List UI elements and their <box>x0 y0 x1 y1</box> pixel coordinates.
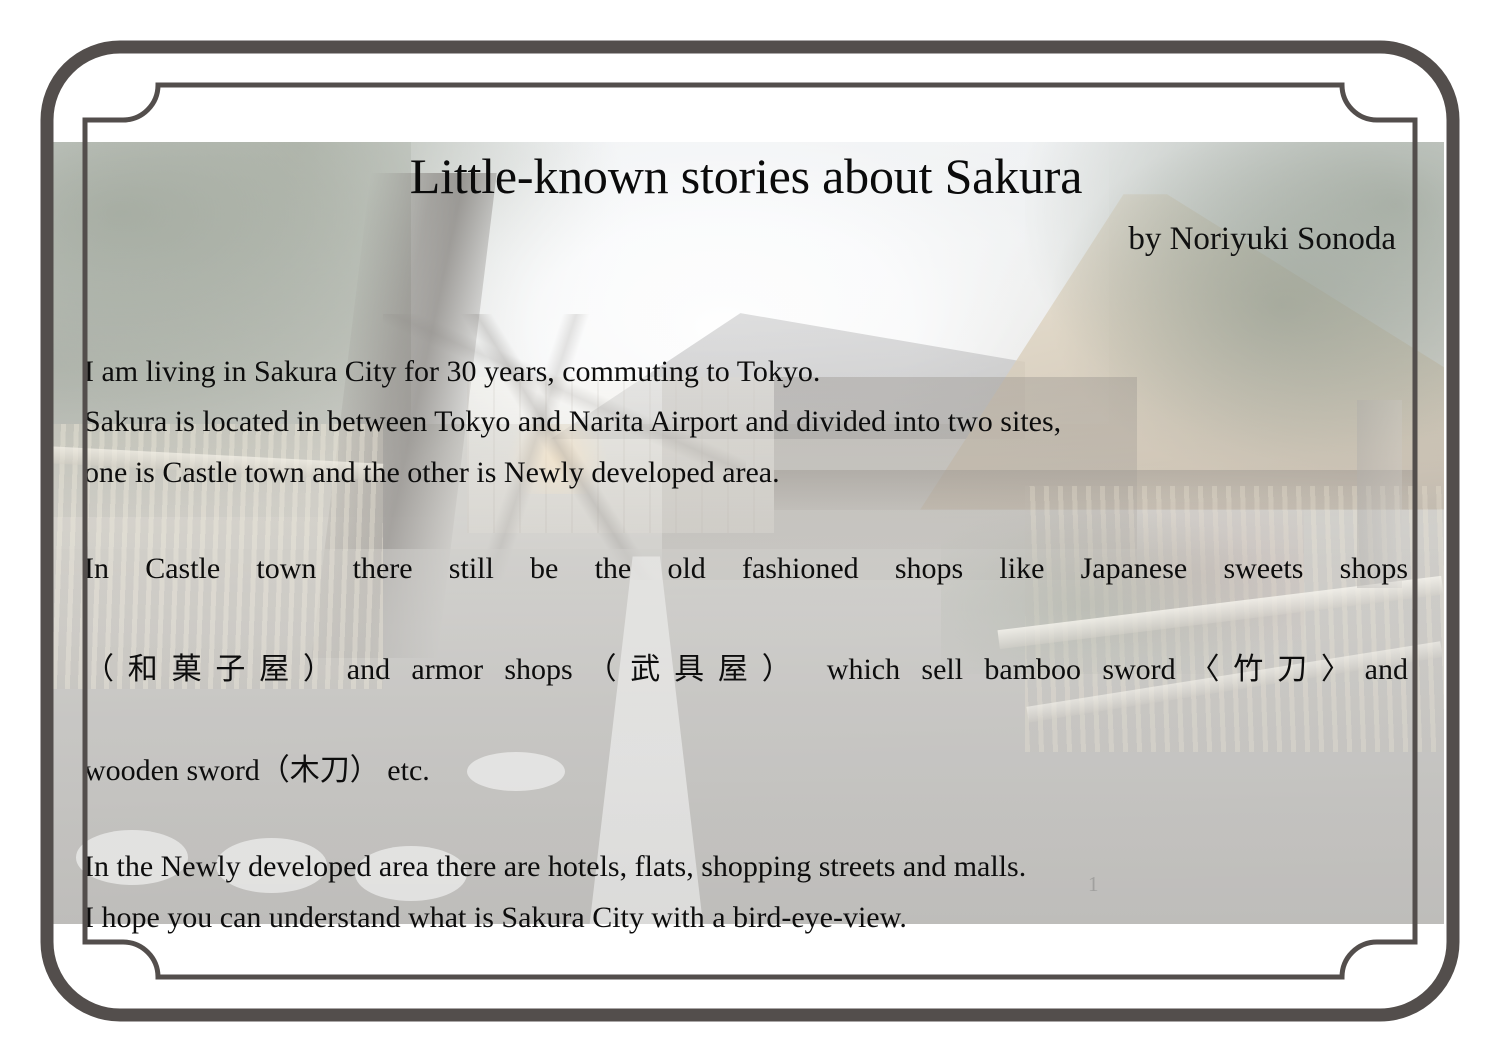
text-line: I hope you can understand what is Sakura… <box>84 893 1408 943</box>
text-line: Sakura is located in between Tokyo and N… <box>84 397 1408 447</box>
text-line: I am living in Sakura City for 30 years,… <box>84 347 1408 397</box>
text-line: wooden sword（木刀） etc. <box>84 746 1408 796</box>
paragraph-1: I am living in Sakura City for 30 years,… <box>84 347 1408 498</box>
author-byline: by Noriyuki Sonoda <box>1128 221 1396 258</box>
body-text: I am living in Sakura City for 30 years,… <box>84 347 1408 943</box>
text-line: In the Newly developed area there are ho… <box>84 842 1408 892</box>
paragraph-2: In Castle town there still be the old fa… <box>84 544 1408 796</box>
page-number: 1 <box>1088 872 1099 897</box>
text-line: one is Castle town and the other is Newl… <box>84 448 1408 498</box>
page-title: Little-known stories about Sakura <box>48 150 1444 202</box>
text-line: In Castle town there still be the old fa… <box>84 544 1408 645</box>
slide: Little-known stories about Sakura by Nor… <box>0 0 1500 1062</box>
text-line: （和菓子屋）and armor shops（武具屋） which sell ba… <box>84 645 1408 746</box>
slide-content: Little-known stories about Sakura by Nor… <box>48 142 1444 924</box>
paragraph-3: In the Newly developed area there are ho… <box>84 842 1408 943</box>
